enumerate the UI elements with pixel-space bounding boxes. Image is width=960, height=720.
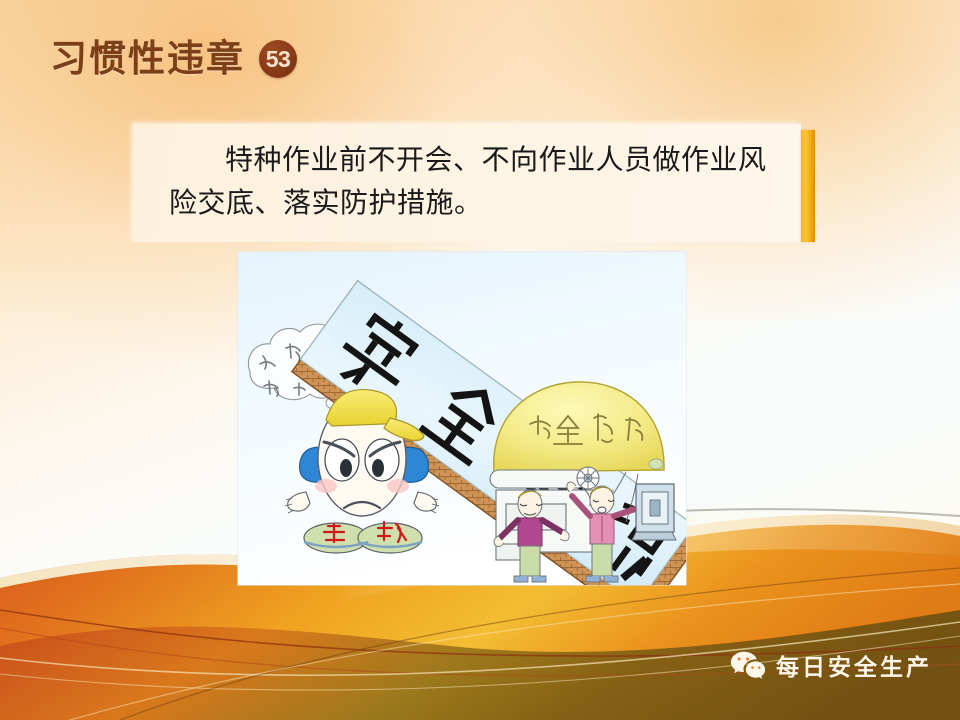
page-title: 习惯性违章 bbox=[50, 41, 245, 78]
illustration-image bbox=[238, 252, 686, 585]
caption-text: 特种作业前不开会、不向作业人员做作业风险交底、落实防护措施。 bbox=[169, 140, 777, 225]
footer-account-name: 每日安全生产 bbox=[776, 648, 932, 682]
wechat-icon bbox=[730, 650, 766, 680]
illustration-svg bbox=[238, 252, 686, 585]
slide-root: 习惯性违章 53 特种作业前不开会、不向作业人员做作业风险交底、落实防护措施。 bbox=[0, 0, 960, 720]
electric-panel bbox=[632, 484, 676, 540]
machine bbox=[490, 467, 599, 560]
slide-header: 习惯性违章 53 bbox=[50, 40, 297, 78]
caption-box: 特种作业前不开会、不向作业人员做作业风险交底、落实防护措施。 bbox=[133, 124, 801, 242]
caption-accent-bar bbox=[801, 130, 815, 242]
footer-watermark: 每日安全生产 bbox=[730, 648, 932, 682]
status-badge: 53 bbox=[259, 40, 297, 78]
